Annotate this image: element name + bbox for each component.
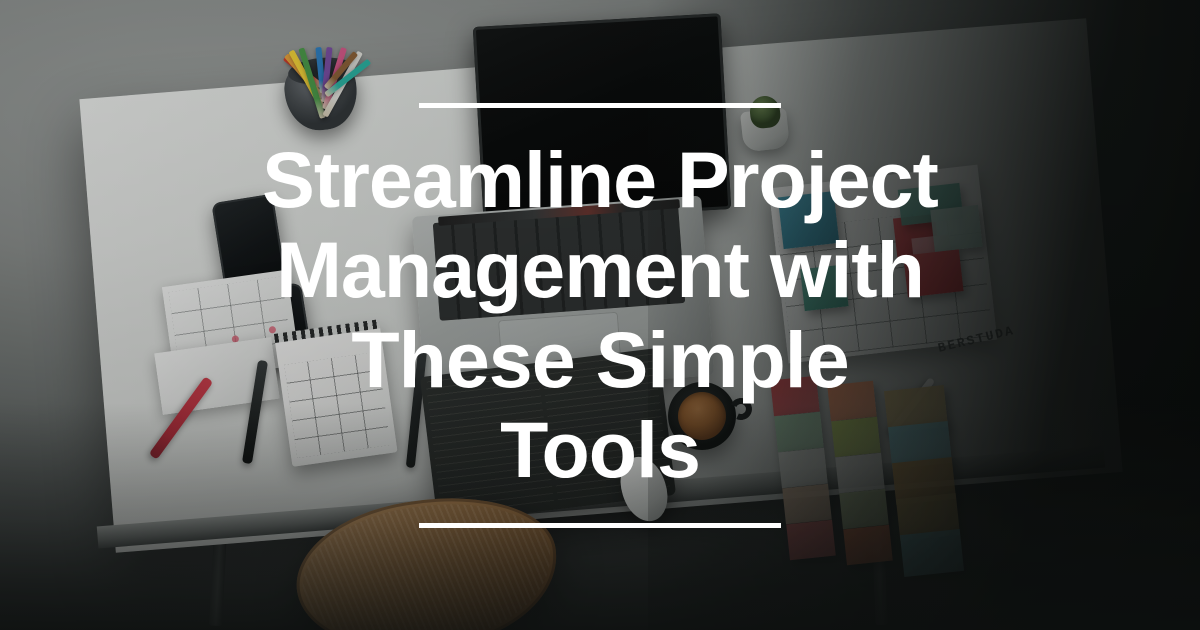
page-title: Streamline Project Management with These… (262, 135, 938, 495)
top-divider-rule (419, 103, 781, 108)
headline-overlay: Streamline Project Management with These… (0, 0, 1200, 630)
headline-line-3: These Simple (351, 315, 848, 404)
headline-line-2: Management with (276, 225, 924, 314)
headline-line-4: Tools (500, 405, 700, 494)
hero-banner: BERSTUDA Streamline Project Man (0, 0, 1200, 630)
bottom-divider-rule (419, 523, 781, 528)
headline-line-1: Streamline Project (262, 135, 938, 224)
